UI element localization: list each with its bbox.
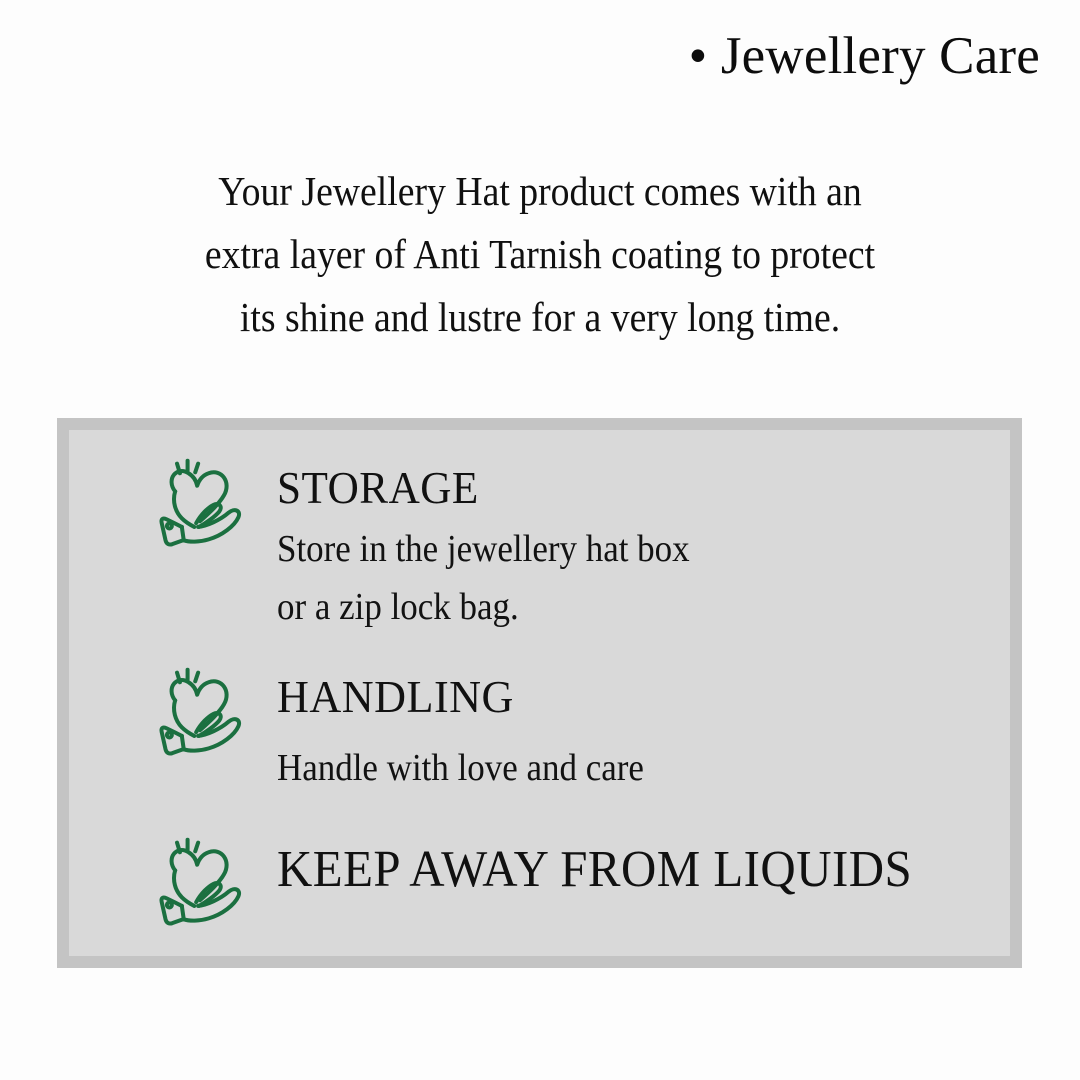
care-body-line: Handle with love and care [277,739,644,797]
heart-in-hand-icon [153,456,249,548]
intro-line: extra layer of Anti Tarnish coating to p… [108,223,973,286]
intro-line: its shine and lustre for a very long tim… [108,286,973,349]
care-row: HANDLING Handle with love and care [153,663,676,797]
care-text: STORAGE Store in the jewellery hat box o… [277,454,726,636]
care-heading: STORAGE [277,462,708,514]
care-row: KEEP AWAY FROM LIQUIDS [153,833,953,927]
care-instructions-panel: STORAGE Store in the jewellery hat box o… [57,418,1022,968]
care-heading: HANDLING [277,671,660,723]
care-body-line: Store in the jewellery hat box [277,520,690,578]
heart-in-hand-icon [153,665,249,757]
care-body: Handle with love and care [277,739,644,797]
care-text: HANDLING Handle with love and care [277,663,676,797]
intro-line: Your Jewellery Hat product comes with an [108,160,973,223]
intro-paragraph: Your Jewellery Hat product comes with an… [108,160,973,349]
care-rows: STORAGE Store in the jewellery hat box o… [69,430,1010,956]
page-title: • Jewellery Care [689,26,1040,87]
heart-in-hand-icon [153,835,249,927]
care-body-line: or a zip lock bag. [277,578,690,636]
care-text: KEEP AWAY FROM LIQUIDS [277,833,953,899]
care-body: Store in the jewellery hat box or a zip … [277,520,690,636]
care-heading: KEEP AWAY FROM LIQUIDS [277,841,912,899]
care-row: STORAGE Store in the jewellery hat box o… [153,454,726,636]
